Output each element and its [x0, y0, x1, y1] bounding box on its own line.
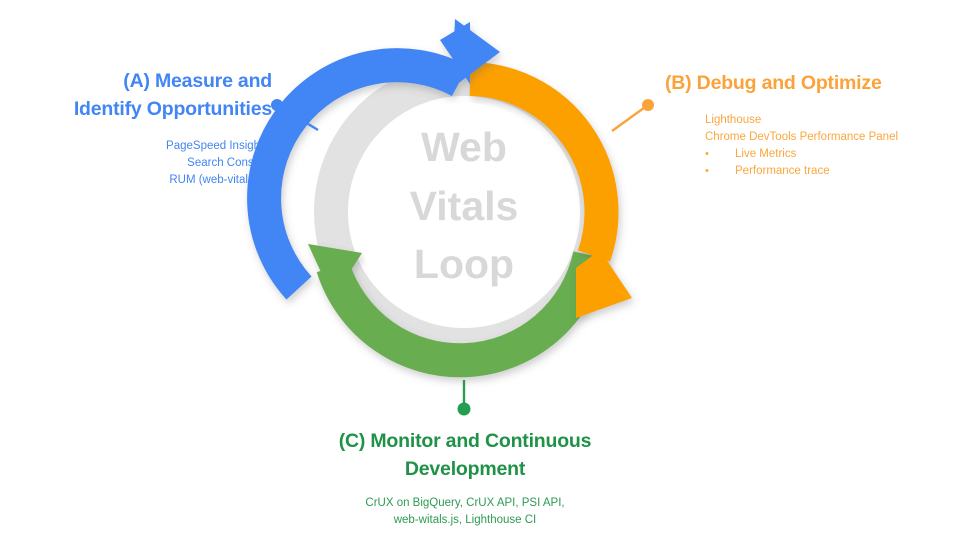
section-a-detail-item: RUM (web-vitals.js) — [8, 172, 269, 189]
connector-c — [458, 380, 471, 416]
bullet-icon: • — [705, 163, 735, 179]
center-label-line-1: Web — [364, 118, 564, 177]
section-c-heading-line-2: Development — [300, 456, 630, 484]
section-a-heading: (A) Measure and Identify Opportunities — [8, 68, 272, 123]
section-b-details: Lighthouse Chrome DevTools Performance P… — [665, 112, 955, 180]
section-a-heading-line-1: (A) Measure and — [8, 68, 272, 96]
bullet-icon: • — [705, 146, 735, 162]
section-c-detail-item: web-witals.js, Lighthouse CI — [300, 512, 630, 529]
section-b-debug: (B) Debug and Optimize Lighthouse Chrome… — [665, 70, 955, 180]
section-a-detail-item: Search Console — [8, 155, 269, 172]
section-a-heading-line-2: Identify Opportunities — [8, 96, 272, 124]
web-vitals-loop-diagram: Web Vitals Loop (A) Measure and Identify… — [0, 0, 960, 540]
center-label-line-3: Loop — [364, 235, 564, 294]
section-c-detail-item: CrUX on BigQuery, CrUX API, PSI API, — [300, 495, 630, 512]
section-c-heading-line-1: (C) Monitor and Continuous — [300, 428, 630, 456]
section-b-bullet-row: • Live Metrics — [705, 146, 955, 163]
section-b-bullet-row: • Performance trace — [705, 163, 955, 180]
section-b-heading: (B) Debug and Optimize — [665, 70, 955, 98]
connector-dot-b — [642, 99, 654, 111]
section-b-bullet-label: Performance trace — [735, 163, 955, 180]
connector-dot-a — [271, 99, 283, 111]
section-b-detail-item: Chrome DevTools Performance Panel — [705, 129, 955, 146]
section-a-details: PageSpeed Insights Search Console RUM (w… — [8, 138, 272, 189]
center-label-line-2: Vitals — [364, 177, 564, 236]
section-b-bullet-label: Live Metrics — [735, 146, 955, 163]
section-b-detail-item: Lighthouse — [705, 112, 955, 129]
center-label: Web Vitals Loop — [364, 118, 564, 294]
connector-dot-c — [458, 403, 471, 416]
section-a-detail-item: PageSpeed Insights — [8, 138, 269, 155]
section-c-details: CrUX on BigQuery, CrUX API, PSI API, web… — [300, 495, 630, 529]
section-c-heading: (C) Monitor and Continuous Development — [300, 428, 630, 483]
connector-b — [612, 99, 654, 131]
section-a-measure: (A) Measure and Identify Opportunities P… — [8, 68, 272, 189]
section-c-monitor: (C) Monitor and Continuous Development C… — [300, 428, 630, 529]
